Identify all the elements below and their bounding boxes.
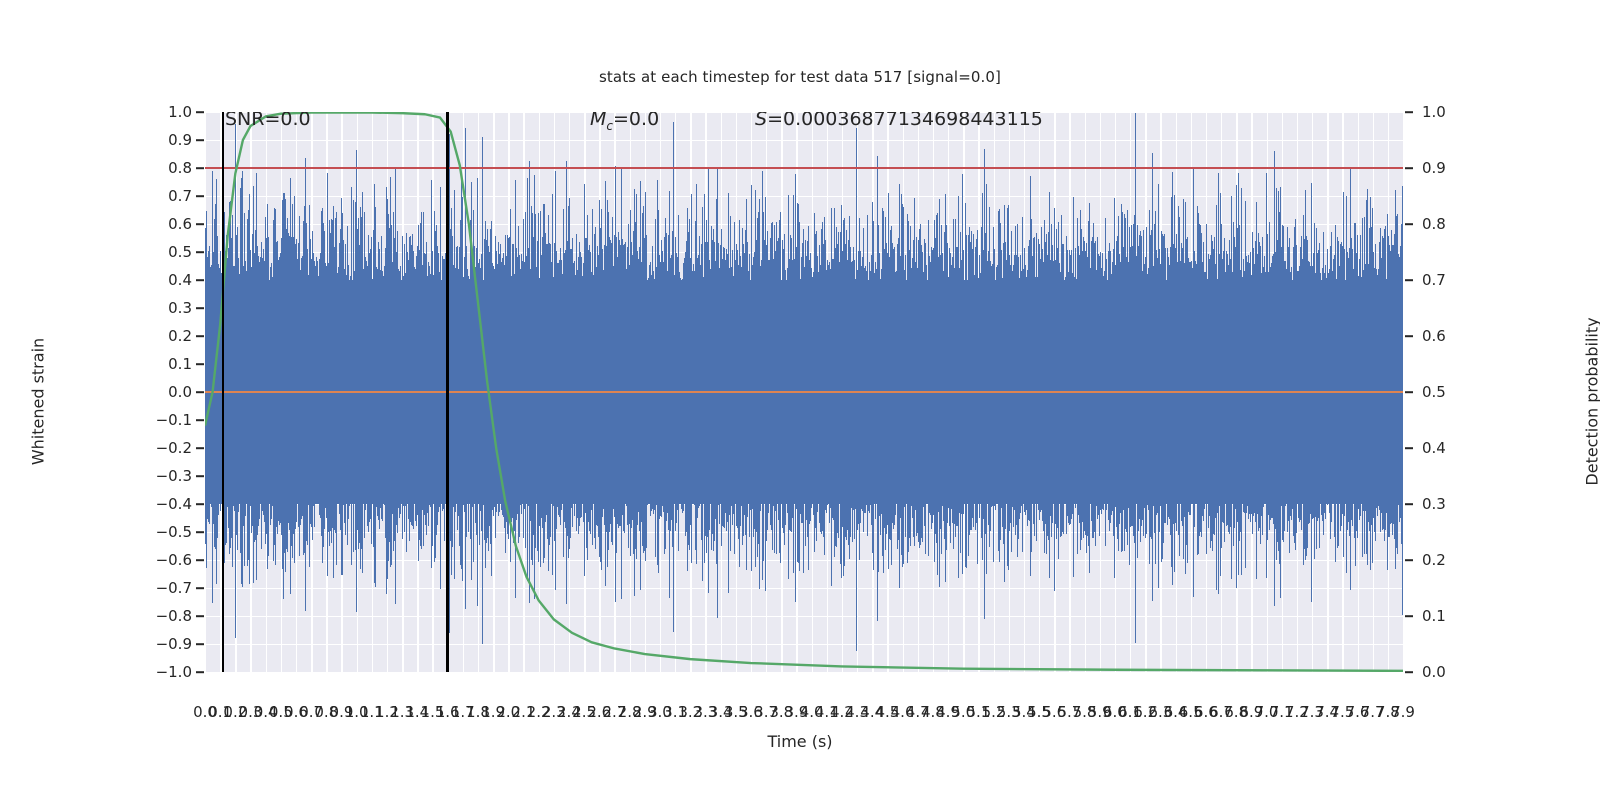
y-axis-left-tick-mark xyxy=(196,223,204,225)
y-axis-left-tick-mark xyxy=(196,139,204,141)
y-axis-left-tick-mark xyxy=(196,279,204,281)
y-axis-right-tick-label: 0.9 xyxy=(1422,159,1446,177)
y-axis-left-tick-mark xyxy=(196,167,204,169)
y-axis-left-tick-label: −0.8 xyxy=(156,607,192,625)
y-axis-left-tick-label: 0.7 xyxy=(168,187,192,205)
y-axis-right-tick-label: 0.1 xyxy=(1422,607,1446,625)
y-axis-left-tick-mark xyxy=(196,531,204,533)
y-axis-left-tick-mark xyxy=(196,307,204,309)
y-axis-left-tick-mark xyxy=(196,419,204,421)
y-axis-left-tick-mark xyxy=(196,559,204,561)
y-axis-left-tick-mark xyxy=(196,195,204,197)
y-axis-left-tick-label: −0.7 xyxy=(156,579,192,597)
y-axis-left-tick-mark xyxy=(196,643,204,645)
y-axis-right-tick-mark xyxy=(1405,447,1413,449)
y-axis-right-tick-label: 0.5 xyxy=(1422,383,1446,401)
y-axis-right-tick-mark xyxy=(1405,671,1413,673)
y-axis-left-tick-label: 0.6 xyxy=(168,215,192,233)
y-axis-right-tick-mark xyxy=(1405,615,1413,617)
y-axis-left-tick-label: −0.6 xyxy=(156,551,192,569)
y-axis-left-tick-label: −0.4 xyxy=(156,495,192,513)
y-axis-right-label: Detection probability xyxy=(1583,192,1600,612)
plot-area: SNR=0.0 Mc=0.0 S=0.00036877134698443115 … xyxy=(205,112,1403,672)
y-axis-right-tick-mark xyxy=(1405,111,1413,113)
chirp-mass-value: =0.0 xyxy=(613,112,659,130)
y-axis-left-tick-mark xyxy=(196,447,204,449)
y-axis-right-tick-label: 1.0 xyxy=(1422,103,1446,121)
chart-title: stats at each timestep for test data 517… xyxy=(0,68,1600,86)
y-axis-right-tick-mark xyxy=(1405,223,1413,225)
y-axis-left-tick-label: −0.3 xyxy=(156,467,192,485)
y-axis-left-tick-mark xyxy=(196,475,204,477)
y-axis-left-tick-label: 1.0 xyxy=(168,103,192,121)
y-axis-right-tick-mark xyxy=(1405,559,1413,561)
y-axis-left-tick-label: 0.1 xyxy=(168,355,192,373)
y-axis-right-tick-mark xyxy=(1405,503,1413,505)
y-axis-left-tick-label: 0.0 xyxy=(168,383,192,401)
y-axis-left-tick-label: −0.9 xyxy=(156,635,192,653)
statistic-value: =0.00036877134698443115 xyxy=(767,112,1043,130)
figure-root: stats at each timestep for test data 517… xyxy=(0,0,1600,800)
y-axis-left-tick-mark xyxy=(196,251,204,253)
y-axis-left-tick-mark xyxy=(196,503,204,505)
chirp-mass-annotation: Mc=0.0 xyxy=(590,112,659,133)
y-axis-left-label: Whitened strain xyxy=(29,192,48,612)
x-axis-label: Time (s) xyxy=(0,732,1600,751)
y-axis-left-tick-mark xyxy=(196,111,204,113)
statistic-annotation: S=0.00036877134698443115 xyxy=(755,112,1043,130)
y-axis-right-tick-mark xyxy=(1405,167,1413,169)
y-axis-left-tick-mark xyxy=(196,363,204,365)
y-axis-left-tick-label: 0.8 xyxy=(168,159,192,177)
signal-start-marker xyxy=(222,112,225,672)
y-axis-right-tick-label: 0.4 xyxy=(1422,439,1446,457)
y-axis-left-tick-label: 0.5 xyxy=(168,243,192,261)
y-axis-left-tick-label: −0.1 xyxy=(156,411,192,429)
y-axis-right-tick-label: 0.2 xyxy=(1422,551,1446,569)
y-axis-right-tick-mark xyxy=(1405,279,1413,281)
y-axis-left-tick-mark xyxy=(196,335,204,337)
x-axis-tick-label: 7.9 xyxy=(1391,703,1415,721)
y-axis-left-tick-label: 0.2 xyxy=(168,327,192,345)
y-axis-right-tick-label: 0.6 xyxy=(1422,327,1446,345)
y-axis-right-tick-mark xyxy=(1405,391,1413,393)
chirp-mass-symbol: M xyxy=(590,112,606,130)
y-axis-left-tick-label: −1.0 xyxy=(156,663,192,681)
detection-probability-curve xyxy=(205,112,1403,672)
y-axis-right-tick-label: 0.3 xyxy=(1422,495,1446,513)
y-axis-left-tick-label: −0.2 xyxy=(156,439,192,457)
snr-annotation: SNR=0.0 xyxy=(225,112,311,130)
y-axis-left-tick-mark xyxy=(196,391,204,393)
statistic-symbol: S xyxy=(755,112,767,130)
y-axis-right-tick-mark xyxy=(1405,335,1413,337)
y-axis-left-tick-label: 0.9 xyxy=(168,131,192,149)
y-axis-right-tick-label: 0.0 xyxy=(1422,663,1446,681)
y-axis-left-tick-label: 0.4 xyxy=(168,271,192,289)
y-axis-left-tick-mark xyxy=(196,671,204,673)
y-axis-left-tick-label: 0.3 xyxy=(168,299,192,317)
y-axis-right-tick-label: 0.8 xyxy=(1422,215,1446,233)
y-axis-left-tick-mark xyxy=(196,615,204,617)
y-axis-left-tick-mark xyxy=(196,587,204,589)
y-axis-right-tick-label: 0.7 xyxy=(1422,271,1446,289)
y-axis-left-tick-label: −0.5 xyxy=(156,523,192,541)
signal-end-marker xyxy=(446,112,449,672)
